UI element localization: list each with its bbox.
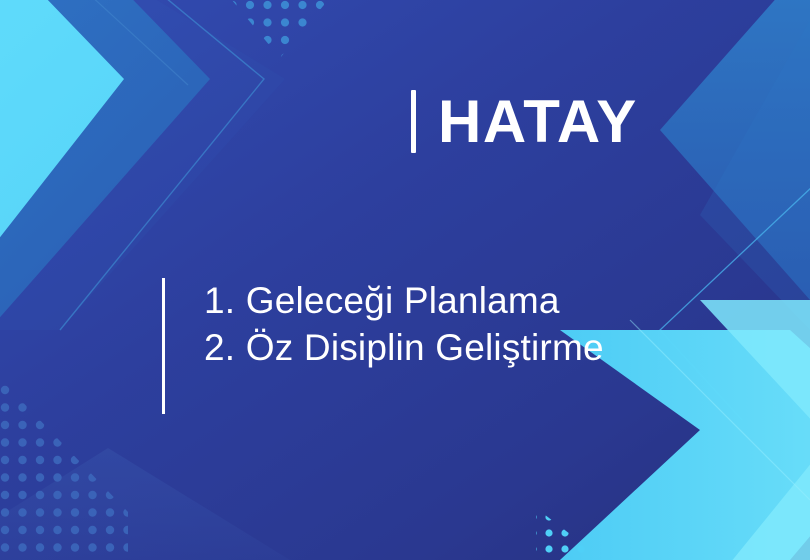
topic-list: 1. Geleceği Planlama 2. Öz Disiplin Geli… xyxy=(204,278,604,371)
title-accent-rule xyxy=(411,90,416,153)
page-title: HATAY xyxy=(438,92,638,152)
list-item: 1. Geleceği Planlama xyxy=(204,278,604,325)
body-block: 1. Geleceği Planlama 2. Öz Disiplin Geli… xyxy=(162,278,604,414)
slide-content: HATAY 1. Geleceği Planlama 2. Öz Disipli… xyxy=(0,0,810,560)
list-item: 2. Öz Disiplin Geliştirme xyxy=(204,325,604,372)
slide-canvas: HATAY 1. Geleceği Planlama 2. Öz Disipli… xyxy=(0,0,810,560)
body-accent-rule xyxy=(162,278,165,414)
title-block: HATAY xyxy=(411,90,638,153)
